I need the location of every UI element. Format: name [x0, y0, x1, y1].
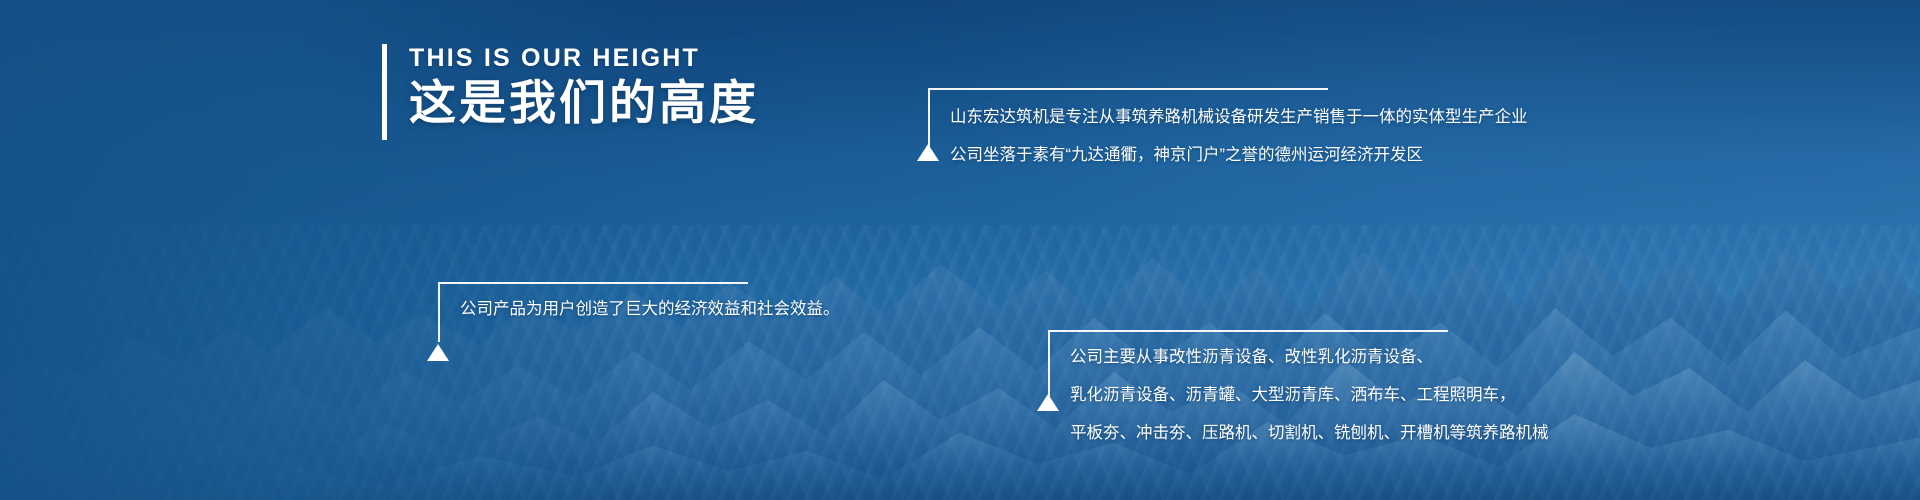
callout-line: 山东宏达筑机是专注从事筑养路机械设备研发生产销售于一体的实体型生产企业 [950, 98, 1528, 136]
title-chinese: 这是我们的高度 [409, 74, 759, 132]
callout-line: 公司主要从事改性沥青设备、改性乳化沥青设备、 [1070, 338, 1549, 376]
callout-line: 公司坐落于素有“九达通衢，神京门户”之誉的德州运河经济开发区 [950, 136, 1528, 174]
callout-text: 公司主要从事改性沥青设备、改性乳化沥青设备、 乳化沥青设备、沥青罐、大型沥青库、… [1070, 338, 1549, 452]
callout-company-intro: 山东宏达筑机是专注从事筑养路机械设备研发生产销售于一体的实体型生产企业 公司坐落… [928, 88, 1328, 180]
banner-content: THIS IS OUR HEIGHT 这是我们的高度 山东宏达筑机是专注从事筑养… [0, 0, 1920, 500]
callout-triangle-pointer-icon [427, 344, 449, 361]
callout-line: 乳化沥青设备、沥青罐、大型沥青库、洒布车、工程照明车， [1070, 376, 1549, 414]
callout-line: 公司产品为用户创造了巨大的经济效益和社会效益。 [460, 290, 840, 328]
callout-text: 山东宏达筑机是专注从事筑养路机械设备研发生产销售于一体的实体型生产企业 公司坐落… [950, 98, 1528, 174]
callout-benefit: 公司产品为用户创造了巨大的经济效益和社会效益。 [438, 282, 748, 368]
banner-title-block: THIS IS OUR HEIGHT 这是我们的高度 [382, 44, 759, 140]
callout-triangle-pointer-icon [917, 144, 939, 161]
callout-line: 平板夯、冲击夯、压路机、切割机、铣刨机、开槽机等筑养路机械 [1070, 414, 1549, 452]
title-english: THIS IS OUR HEIGHT [409, 44, 759, 72]
callout-triangle-pointer-icon [1037, 394, 1059, 411]
callout-products: 公司主要从事改性沥青设备、改性乳化沥青设备、 乳化沥青设备、沥青罐、大型沥青库、… [1048, 330, 1448, 462]
hero-banner: THIS IS OUR HEIGHT 这是我们的高度 山东宏达筑机是专注从事筑养… [0, 0, 1920, 500]
callout-text: 公司产品为用户创造了巨大的经济效益和社会效益。 [460, 290, 840, 328]
